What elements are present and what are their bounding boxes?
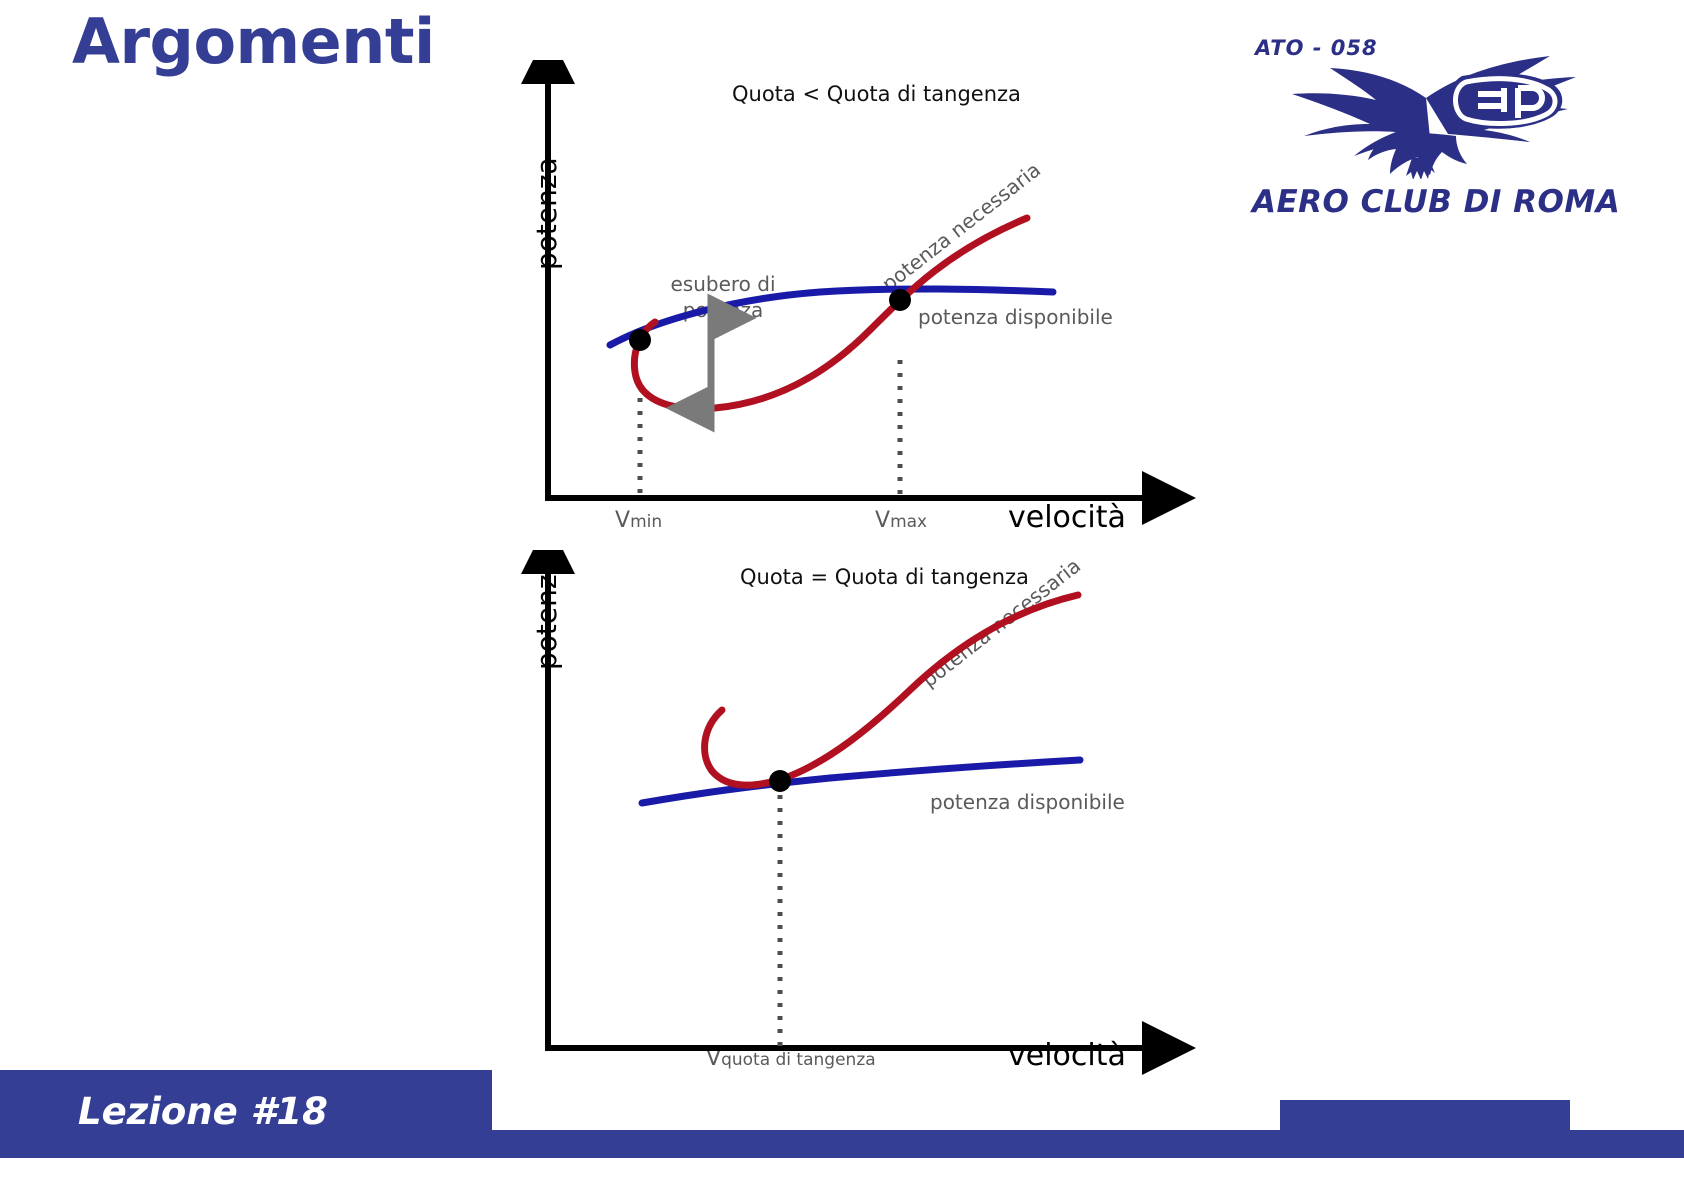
footer-block-right (1280, 1100, 1570, 1158)
chart-quota-minore-tangenza: Quota < Quota di tangenza potenza veloci… (500, 60, 1200, 550)
chart-quota-uguale-tangenza: Quota = Quota di tangenza potenza veloci… (500, 550, 1200, 1090)
acr-monogram (1449, 73, 1562, 129)
footer-lesson-label: Lezione #18 (78, 1090, 328, 1133)
series-potenza-disponibile (610, 289, 1053, 345)
eagle-icon (1230, 54, 1580, 179)
chart-plot-area (500, 550, 1200, 1090)
chart-plot-area (500, 60, 1200, 550)
vmax-point (889, 289, 911, 311)
series-potenza-necessaria (705, 595, 1078, 785)
aero-club-logo: ATO - 058 AERO CLUB DI ROMA (1180, 14, 1580, 229)
club-name-label: AERO CLUB DI ROMA (1252, 184, 1620, 220)
page-title: Argomenti (72, 8, 435, 76)
tangency-point (769, 770, 791, 792)
vmin-point (629, 329, 651, 351)
